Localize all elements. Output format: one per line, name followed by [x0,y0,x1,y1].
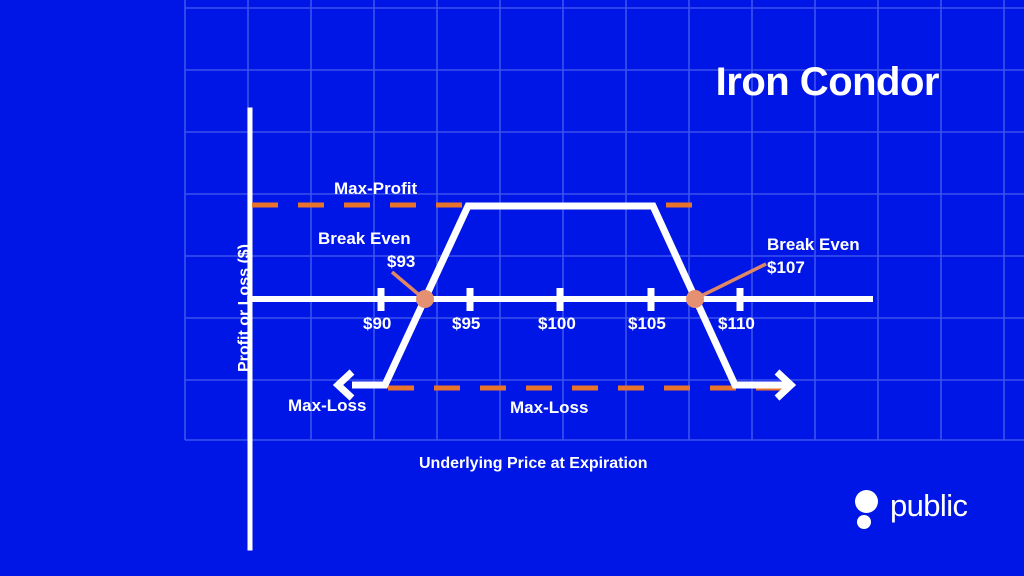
public-logo-dot-icon [857,515,871,529]
x-tick-label-110: $110 [718,314,755,334]
break-even-right-leader-line [695,264,766,299]
max-profit-label: Max-Profit [334,179,417,199]
x-tick-label-90: $90 [363,314,391,334]
break-even-left-value: $93 [387,252,415,272]
x-tick-label-105: $105 [628,314,666,334]
break-even-lower-marker [416,290,434,308]
break-even-upper-marker [686,290,704,308]
x-axis-label: Underlying Price at Expiration [419,455,648,473]
public-logo-icon [855,490,878,513]
payoff-diagram-canvas: Iron Condor Profit or Loss ($) Underlyin… [0,0,1024,576]
break-even-left-title: Break Even [318,229,411,249]
public-logo: public [855,485,975,533]
break-even-right-title: Break Even [767,235,860,255]
brand-name: public [890,488,967,524]
max-loss-left-label: Max-Loss [288,396,366,416]
break-even-right-value: $107 [767,258,805,278]
x-tick-label-95: $95 [452,314,480,334]
y-axis-label: Profit or Loss ($) [236,244,254,372]
left-tail-arrow-icon [338,372,352,398]
max-loss-right-label: Max-Loss [510,398,588,418]
page-title: Iron Condor [716,60,939,105]
x-tick-label-100: $100 [538,314,576,334]
